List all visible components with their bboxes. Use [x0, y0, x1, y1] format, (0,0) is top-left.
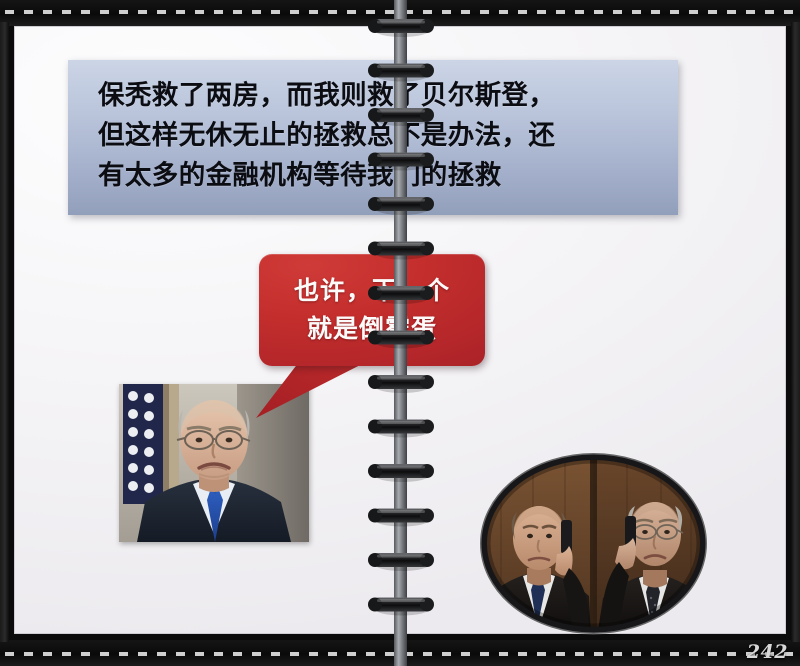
right-edge-border: [791, 22, 800, 642]
notebook-page: 保秃救了两房，而我则救了贝尔斯登， 但这样无休无止的拯救总不是办法，还 有太多的…: [14, 26, 786, 634]
film-perforation-bottom-border: [0, 640, 800, 666]
photo-right-two-men-on-phones: [477, 450, 710, 637]
page-number: 242: [747, 641, 788, 663]
headline-textbox: 保秃救了两房，而我则救了贝尔斯登， 但这样无休无止的拯救总不是办法，还 有太多的…: [68, 60, 678, 215]
speech-bubble: 也许，下一个 就是倒霉蛋: [259, 254, 485, 384]
slide-canvas: 保秃救了两房，而我则救了贝尔斯登， 但这样无休无止的拯救总不是办法，还 有太多的…: [0, 0, 800, 666]
left-edge-border: [0, 22, 9, 642]
speech-bubble-text: 也许，下一个 就是倒霉蛋: [294, 272, 450, 348]
speech-bubble-body: 也许，下一个 就是倒霉蛋: [259, 254, 485, 366]
headline-text: 保秃救了两房，而我则救了贝尔斯登， 但这样无休无止的拯救总不是办法，还 有太多的…: [98, 76, 656, 196]
film-perforation-top-border: [0, 0, 800, 26]
speech-bubble-tail: [256, 358, 376, 420]
photo-right-illustration: [477, 450, 710, 637]
